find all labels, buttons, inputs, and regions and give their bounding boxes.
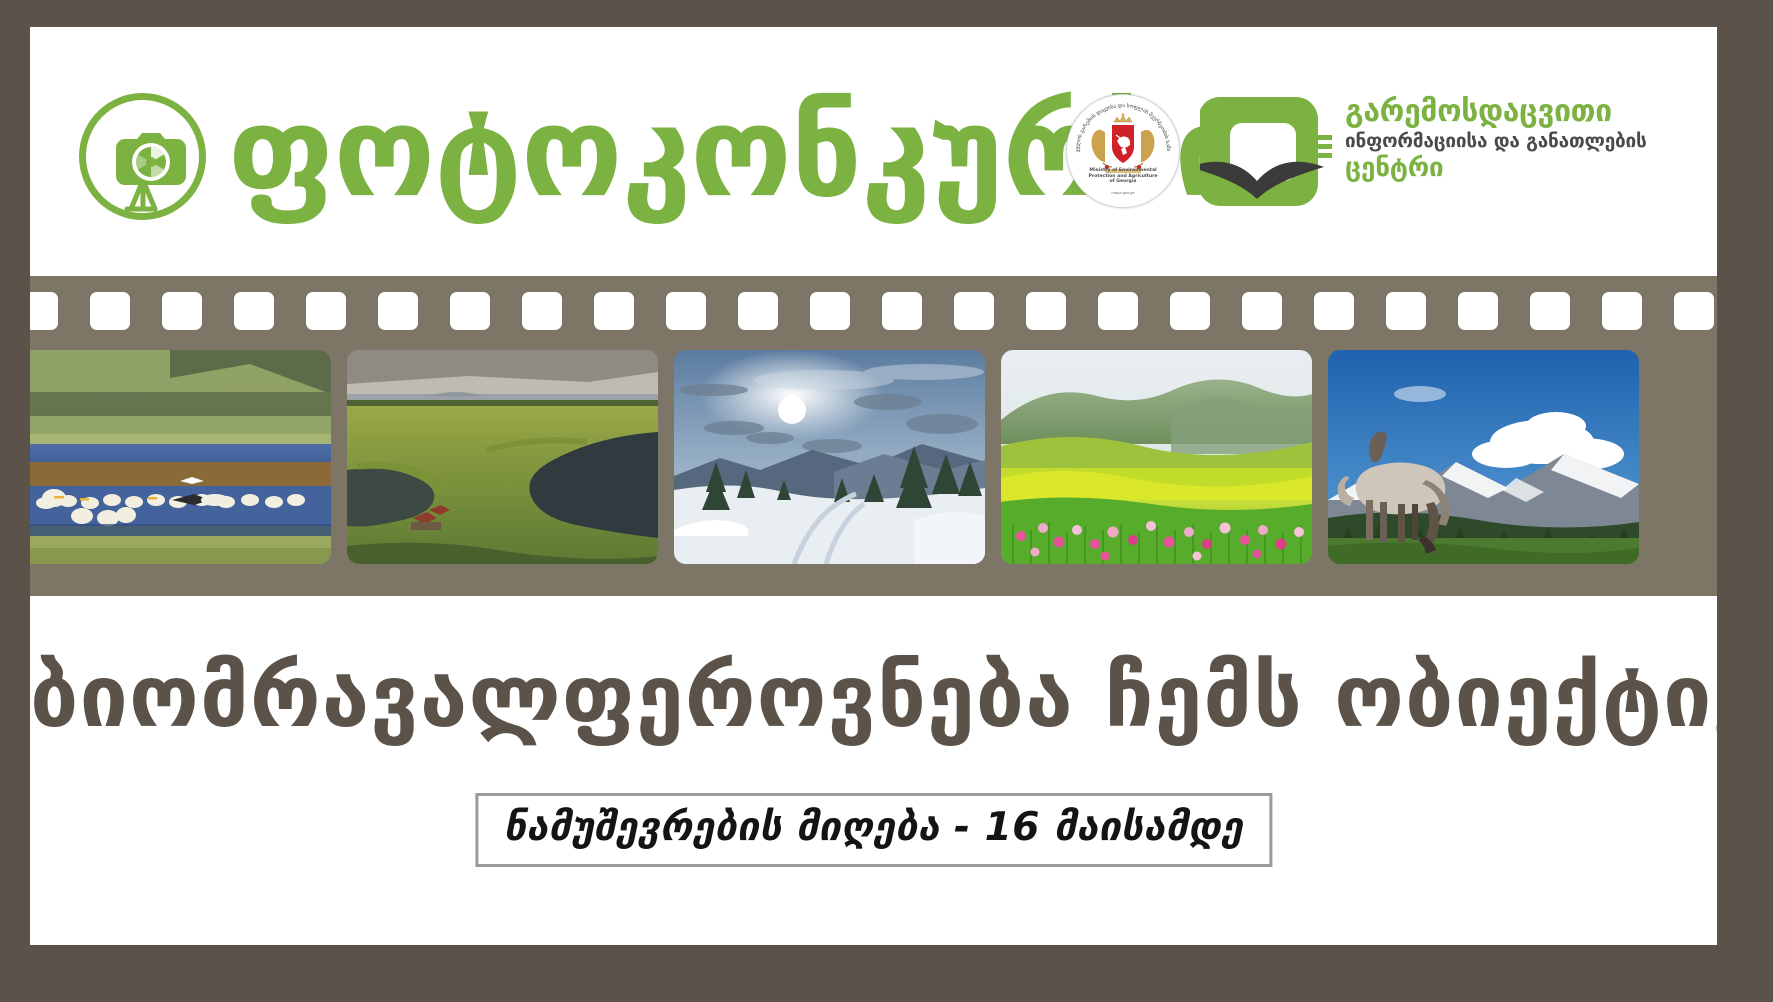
- filmstrip-perforation: [522, 292, 562, 330]
- filmstrip-perforation: [1314, 292, 1354, 330]
- seal-caption: Ministry of Environmental Protection and…: [1067, 168, 1179, 185]
- filmstrip-perforation: [1602, 292, 1642, 330]
- eiec-line-3: ცენტრი: [1345, 153, 1685, 183]
- eiec-logo: გარემოსდაცვითი ინფორმაციისა და განათლები…: [1200, 89, 1680, 214]
- poster-bottom: ბიომრავალფეროვნება ჩემს ობიექტივში ნამუშ…: [30, 597, 1717, 945]
- filmstrip-perforation: [306, 292, 346, 330]
- seal-caption-line3: of Georgia: [1067, 179, 1179, 185]
- filmstrip-perforation: [738, 292, 778, 330]
- deadline-text: ნამუშევრების მიღება - 16 მაისამდე: [504, 805, 1243, 851]
- eiec-line-2: ინფორმაციისა და განათლების: [1345, 129, 1685, 153]
- filmstrip-perforation: [378, 292, 418, 330]
- photo-alpine-flowers[interactable]: [1001, 350, 1312, 564]
- filmstrip-perforation: [1242, 292, 1282, 330]
- main-title: ბიომრავალფეროვნება ჩემს ობიექტივში: [30, 647, 1717, 747]
- filmstrip-perforation: [1458, 292, 1498, 330]
- poster-header: ფოტოკონკურსი საქართველოს გარემოს დაცვისა…: [30, 27, 1717, 303]
- filmstrip-perforation: [1386, 292, 1426, 330]
- filmstrip: [30, 276, 1717, 596]
- photo-wetland-river[interactable]: [347, 350, 658, 564]
- photo-snow-mountain-road[interactable]: [674, 350, 985, 564]
- filmstrip-perforation: [1530, 292, 1570, 330]
- filmstrip-perforation: [666, 292, 706, 330]
- poster-root: ფოტოკონკურსი საქართველოს გარემოს დაცვისა…: [0, 0, 1773, 1002]
- eiec-book-logo-icon: [1200, 89, 1335, 214]
- filmstrip-perforation: [1098, 292, 1138, 330]
- deadline-box: ნამუშევრების მიღება - 16 მაისამდე: [475, 793, 1272, 867]
- eiec-logo-text: გარემოსდაცვითი ინფორმაციისა და განათლები…: [1345, 95, 1685, 183]
- filmstrip-perforation: [1674, 292, 1714, 330]
- seal-url: mepa.gov.ge: [1067, 191, 1179, 195]
- photo-pelicans-lake[interactable]: [30, 350, 331, 564]
- filmstrip-perforation: [234, 292, 274, 330]
- filmstrip-perforation: [1170, 292, 1210, 330]
- camera-tripod-circle-icon: [75, 89, 210, 224]
- photo-horse-mountains[interactable]: [1328, 350, 1639, 564]
- filmstrip-perforations-top: [30, 292, 1717, 330]
- filmstrip-perforation: [954, 292, 994, 330]
- filmstrip-perforation: [162, 292, 202, 330]
- ministry-seal-logo: საქართველოს გარემოს დაცვისა და სოფლის მე…: [1066, 94, 1180, 208]
- filmstrip-perforation: [882, 292, 922, 330]
- filmstrip-perforation: [594, 292, 634, 330]
- filmstrip-perforation: [1026, 292, 1066, 330]
- filmstrip-perforation: [810, 292, 850, 330]
- filmstrip-frames: [30, 350, 1717, 564]
- filmstrip-perforation: [30, 292, 58, 330]
- poster-inner: ფოტოკონკურსი საქართველოს გარემოს დაცვისა…: [30, 27, 1717, 945]
- filmstrip-perforation: [90, 292, 130, 330]
- eiec-line-1: გარემოსდაცვითი: [1345, 95, 1685, 129]
- filmstrip-perforation: [450, 292, 490, 330]
